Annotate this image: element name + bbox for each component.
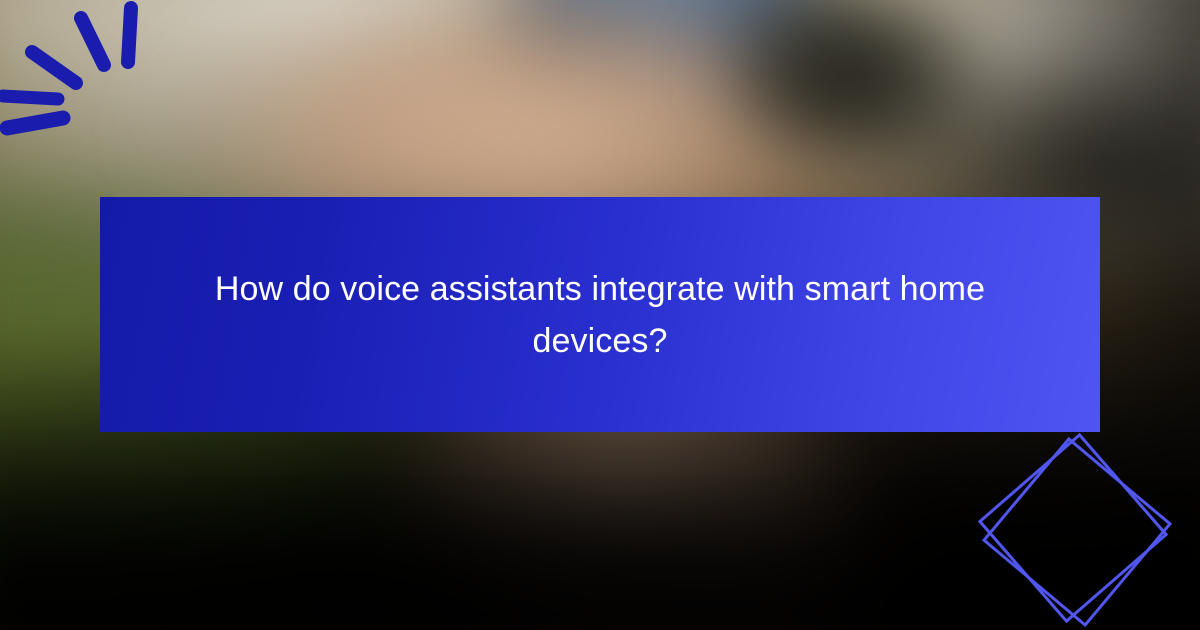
hero-card: How do voice assistants integrate with s…: [0, 0, 1200, 630]
page-title: How do voice assistants integrate with s…: [210, 263, 990, 367]
headline-banner: How do voice assistants integrate with s…: [100, 197, 1100, 432]
